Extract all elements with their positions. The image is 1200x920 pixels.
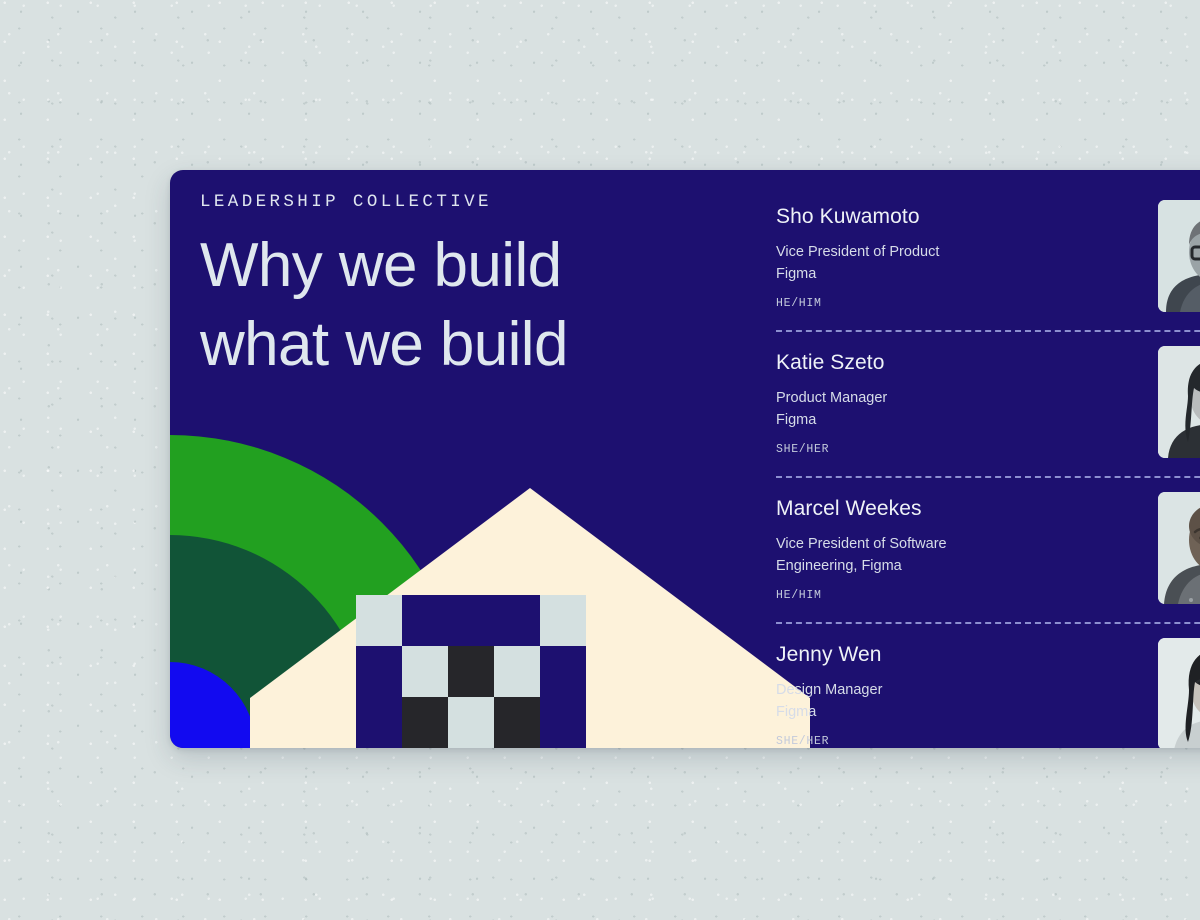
- speaker-divider: [776, 330, 1200, 332]
- speaker-role: Vice President of Product: [776, 242, 1066, 263]
- speaker-text: Marcel Weekes Vice President of Software…: [776, 492, 1066, 602]
- checker-cell: [356, 595, 402, 646]
- speaker-company: Figma: [776, 410, 1066, 431]
- speaker-role: Vice President of Software: [776, 534, 1066, 555]
- speaker-text: Katie Szeto Product Manager Figma SHE/HE…: [776, 346, 1066, 456]
- speaker-name: Katie Szeto: [776, 350, 1066, 375]
- speaker-row-marcel-weekes[interactable]: Marcel Weekes Vice President of Software…: [776, 476, 1200, 622]
- checkerboard-pattern: [356, 595, 632, 748]
- headline-line-1: Why we build: [200, 226, 740, 305]
- speaker-role: Product Manager: [776, 388, 1066, 409]
- avatar: [1158, 638, 1200, 748]
- speaker-text: Jenny Wen Design Manager Figma SHE/HER: [776, 638, 1066, 748]
- checker-cell: [402, 595, 448, 646]
- checker-cell: [540, 646, 586, 697]
- avatar: [1158, 492, 1200, 604]
- checker-cell: [540, 595, 586, 646]
- checker-cell: [402, 646, 448, 697]
- checker-cell: [356, 646, 402, 697]
- checker-cell: [494, 697, 540, 748]
- speaker-row-sho-kuwamoto[interactable]: Sho Kuwamoto Vice President of Product F…: [776, 184, 1200, 330]
- speaker-divider: [776, 476, 1200, 478]
- checker-cell: [494, 646, 540, 697]
- headline-line-2: what we build: [200, 305, 740, 384]
- avatar: [1158, 200, 1200, 312]
- checker-cell: [586, 595, 632, 646]
- checker-cell: [586, 646, 632, 697]
- checker-cell: [356, 697, 402, 748]
- speaker-pronouns: HE/HIM: [776, 297, 1066, 310]
- checker-cell: [448, 697, 494, 748]
- headline-block: LEADERSHIP COLLECTIVE Why we build what …: [200, 192, 740, 385]
- speaker-name: Jenny Wen: [776, 642, 1066, 667]
- checker-cell: [586, 697, 632, 748]
- speaker-row-katie-szeto[interactable]: Katie Szeto Product Manager Figma SHE/HE…: [776, 330, 1200, 476]
- speaker-pronouns: SHE/HER: [776, 735, 1066, 748]
- checker-cell: [494, 595, 540, 646]
- eyebrow-label: LEADERSHIP COLLECTIVE: [200, 192, 740, 212]
- speaker-pronouns: HE/HIM: [776, 589, 1066, 602]
- speaker-pronouns: SHE/HER: [776, 443, 1066, 456]
- avatar: [1158, 346, 1200, 458]
- speaker-row-jenny-wen[interactable]: Jenny Wen Design Manager Figma SHE/HER: [776, 622, 1200, 748]
- checker-cell: [402, 697, 448, 748]
- speaker-divider: [776, 622, 1200, 624]
- speaker-name: Marcel Weekes: [776, 496, 1066, 521]
- speaker-role: Design Manager: [776, 680, 1066, 701]
- speaker-name: Sho Kuwamoto: [776, 204, 1066, 229]
- checker-cell: [448, 595, 494, 646]
- page-title: Why we build what we build: [200, 226, 740, 385]
- speaker-company: Figma: [776, 702, 1066, 723]
- leadership-collective-slide-card: LEADERSHIP COLLECTIVE Why we build what …: [170, 170, 1200, 748]
- speaker-company: Figma: [776, 264, 1066, 285]
- checker-cell: [540, 697, 586, 748]
- checker-cell: [448, 646, 494, 697]
- speaker-company: Engineering, Figma: [776, 556, 1066, 577]
- speaker-list: Sho Kuwamoto Vice President of Product F…: [776, 184, 1200, 748]
- speaker-text: Sho Kuwamoto Vice President of Product F…: [776, 200, 1066, 310]
